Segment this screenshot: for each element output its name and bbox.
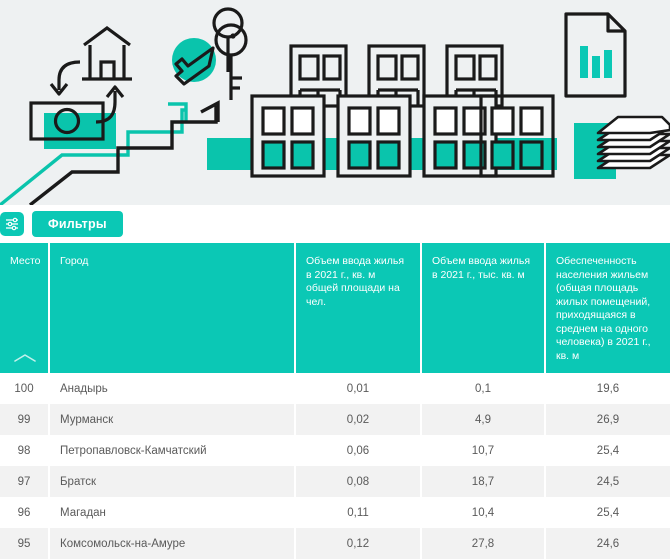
hero-illustration	[0, 0, 670, 205]
cell-housing-provision: 24,5	[546, 466, 670, 497]
document-chart-icon	[566, 14, 625, 96]
cell-volume-thousand: 18,7	[422, 466, 546, 497]
building-front-1	[252, 96, 324, 176]
paper-stack-icon	[598, 117, 670, 168]
cell-volume-per-capita: 0,12	[296, 528, 422, 559]
cell-city: Анадырь	[50, 373, 296, 404]
page-root: Фильтры Место Город Объем ввода жилья	[0, 0, 670, 554]
column-header-place[interactable]: Место	[0, 243, 50, 373]
cell-city: Петропавловск-Камчатский	[50, 435, 296, 466]
table-row[interactable]: 99 Мурманск 0,02 4,9 26,9	[0, 404, 670, 435]
cell-volume-thousand: 27,8	[422, 528, 546, 559]
doc-bar-3	[604, 50, 612, 78]
housing-illustration-svg	[0, 0, 670, 205]
column-header-housing-provision[interactable]: Обеспеченность населения жильем (общая п…	[546, 243, 670, 373]
cell-volume-per-capita: 0,02	[296, 404, 422, 435]
table-row[interactable]: 97 Братск 0,08 18,7 24,5	[0, 466, 670, 497]
cell-city: Магадан	[50, 497, 296, 528]
cell-place: 98	[0, 435, 50, 466]
cell-housing-provision: 24,6	[546, 528, 670, 559]
rankings-table: Место Город Объем ввода жилья в 2021 г.,…	[0, 243, 670, 559]
column-header-volume-thousand[interactable]: Объем ввода жилья в 2021 г., тыс. кв. м	[422, 243, 546, 373]
cell-volume-thousand: 10,7	[422, 435, 546, 466]
cell-city: Комсомольск-на-Амуре	[50, 528, 296, 559]
cell-housing-provision: 19,6	[546, 373, 670, 404]
table-header-row: Место Город Объем ввода жилья в 2021 г.,…	[0, 243, 670, 373]
table-header: Место Город Объем ввода жилья в 2021 г.,…	[0, 243, 670, 373]
doc-bar-1	[580, 46, 588, 78]
cell-city: Мурманск	[50, 404, 296, 435]
building-front-2	[338, 96, 410, 176]
column-header-city-label: Город	[60, 255, 88, 267]
cell-place: 95	[0, 528, 50, 559]
cell-housing-provision: 25,4	[546, 497, 670, 528]
cell-volume-per-capita: 0,08	[296, 466, 422, 497]
building-front-3	[424, 96, 496, 176]
table-row[interactable]: 96 Магадан 0,11 10,4 25,4	[0, 497, 670, 528]
cell-place: 97	[0, 466, 50, 497]
cell-volume-thousand: 4,9	[422, 404, 546, 435]
cell-volume-thousand: 10,4	[422, 497, 546, 528]
column-header-city[interactable]: Город	[50, 243, 296, 373]
table-row[interactable]: 98 Петропавловск-Камчатский 0,06 10,7 25…	[0, 435, 670, 466]
chevron-up-icon[interactable]	[14, 353, 36, 363]
column-header-housing-provision-label: Обеспеченность населения жильем (общая п…	[556, 255, 651, 362]
filter-sliders-icon[interactable]	[0, 212, 24, 236]
cell-volume-per-capita: 0,01	[296, 373, 422, 404]
cell-place: 99	[0, 404, 50, 435]
cell-housing-provision: 26,9	[546, 404, 670, 435]
column-header-place-label: Место	[10, 255, 41, 267]
doc-bar-2	[592, 56, 600, 78]
cell-place: 100	[0, 373, 50, 404]
table-row[interactable]: 100 Анадырь 0,01 0,1 19,6	[0, 373, 670, 404]
cell-place: 96	[0, 497, 50, 528]
table-row[interactable]: 95 Комсомольск-на-Амуре 0,12 27,8 24,6	[0, 528, 670, 559]
cell-volume-per-capita: 0,11	[296, 497, 422, 528]
table-body: 100 Анадырь 0,01 0,1 19,6 99 Мурманск 0,…	[0, 373, 670, 559]
cell-volume-per-capita: 0,06	[296, 435, 422, 466]
column-header-volume-per-capita-label: Объем ввода жилья в 2021 г., кв. м общей…	[306, 255, 404, 308]
rankings-table-container: Место Город Объем ввода жилья в 2021 г.,…	[0, 243, 670, 559]
column-header-volume-per-capita[interactable]: Объем ввода жилья в 2021 г., кв. м общей…	[296, 243, 422, 373]
cell-city: Братск	[50, 466, 296, 497]
cell-housing-provision: 25,4	[546, 435, 670, 466]
filter-toolbar: Фильтры	[0, 205, 670, 243]
column-header-volume-thousand-label: Объем ввода жилья в 2021 г., тыс. кв. м	[432, 255, 530, 281]
filters-button[interactable]: Фильтры	[32, 211, 123, 237]
cell-volume-thousand: 0,1	[422, 373, 546, 404]
